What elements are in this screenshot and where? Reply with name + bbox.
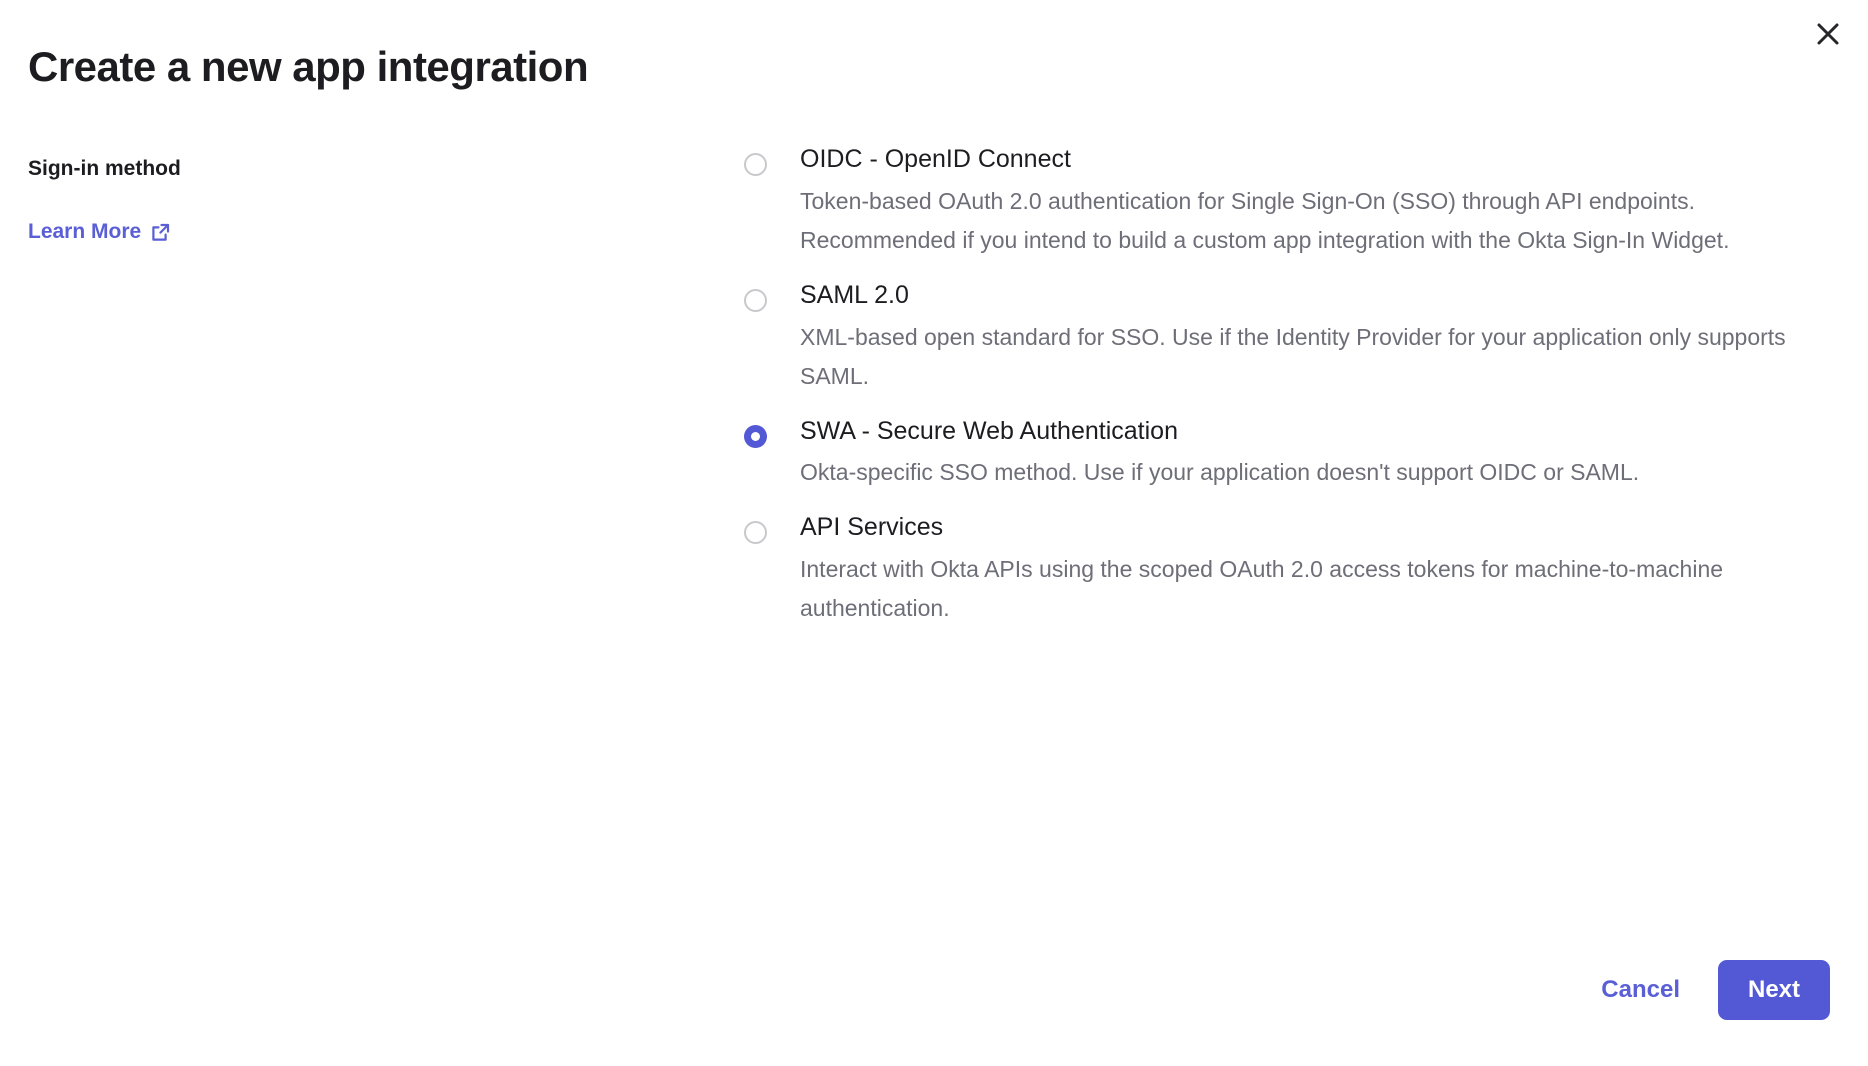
radio-option-swa-label: SWA - Secure Web Authentication bbox=[800, 417, 1178, 445]
learn-more-label: Learn More bbox=[28, 220, 141, 244]
learn-more-link[interactable]: Learn More bbox=[28, 220, 171, 244]
sign-in-method-radio-group[interactable]: OIDC - OpenID Connect Token-based OAuth … bbox=[744, 143, 1842, 629]
page-title: Create a new app integration bbox=[28, 44, 588, 90]
radio-option-saml-description: XML-based open standard for SSO. Use if … bbox=[800, 318, 1842, 397]
radio-indicator-api-services[interactable] bbox=[744, 521, 767, 544]
cancel-button[interactable]: Cancel bbox=[1597, 968, 1684, 1012]
radio-option-api-services-text: API Services Interact with Okta APIs usi… bbox=[800, 511, 1842, 629]
radio-option-swa-description: Okta-specific SSO method. Use if your ap… bbox=[800, 453, 1842, 493]
radio-option-api-services-label: API Services bbox=[800, 513, 943, 541]
radio-option-oidc-description: Token-based OAuth 2.0 authentication for… bbox=[800, 182, 1842, 261]
radio-indicator-saml[interactable] bbox=[744, 289, 767, 312]
radio-option-swa-text: SWA - Secure Web Authentication Okta-spe… bbox=[800, 415, 1842, 493]
sign-in-method-label: Sign-in method bbox=[28, 155, 588, 182]
radio-indicator-oidc[interactable] bbox=[744, 153, 767, 176]
radio-option-oidc-label: OIDC - OpenID Connect bbox=[800, 145, 1071, 173]
external-link-icon bbox=[150, 222, 171, 243]
next-button[interactable]: Next bbox=[1718, 960, 1830, 1020]
radio-option-swa[interactable]: SWA - Secure Web Authentication Okta-spe… bbox=[744, 415, 1842, 493]
radio-option-api-services[interactable]: API Services Interact with Okta APIs usi… bbox=[744, 511, 1842, 629]
radio-option-oidc[interactable]: OIDC - OpenID Connect Token-based OAuth … bbox=[744, 143, 1842, 261]
radio-indicator-swa[interactable] bbox=[744, 425, 767, 448]
radio-option-saml-label: SAML 2.0 bbox=[800, 281, 909, 309]
close-dialog-button[interactable] bbox=[1806, 12, 1850, 56]
radio-option-api-services-description: Interact with Okta APIs using the scoped… bbox=[800, 550, 1842, 629]
dialog-footer: Cancel Next bbox=[1597, 960, 1830, 1020]
radio-option-oidc-text: OIDC - OpenID Connect Token-based OAuth … bbox=[800, 143, 1842, 261]
radio-option-saml[interactable]: SAML 2.0 XML-based open standard for SSO… bbox=[744, 279, 1842, 397]
form-left-column: Sign-in method Learn More bbox=[28, 155, 588, 244]
close-icon bbox=[1815, 21, 1841, 47]
radio-option-saml-text: SAML 2.0 XML-based open standard for SSO… bbox=[800, 279, 1842, 397]
